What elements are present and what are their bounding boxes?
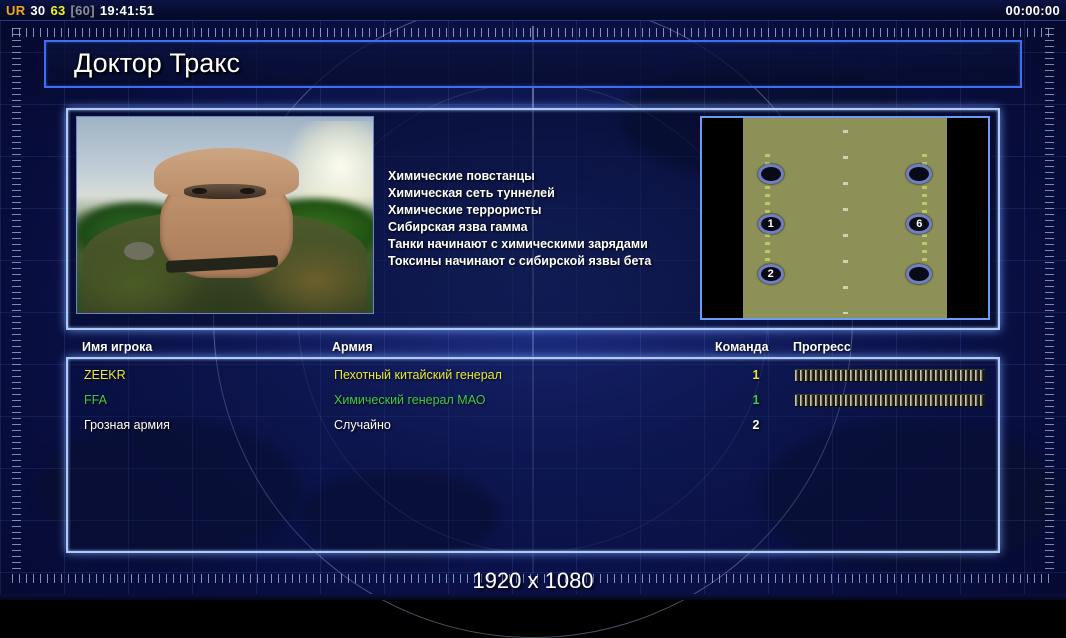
- player-table-header: Имя игрока Армия Команда Прогресс: [66, 340, 1000, 358]
- map-start-position-2[interactable]: 2: [758, 264, 784, 284]
- player-table-panel: ZEEKRПехотный китайский генерал1FFAХимич…: [66, 357, 1000, 553]
- ruler-right: [1045, 28, 1054, 574]
- bottom-bar: [0, 594, 1066, 600]
- map-description-line: Химическая сеть туннелей: [388, 185, 718, 202]
- resolution-label: 1920 x 1080: [0, 568, 1066, 594]
- cell-player-name: Грозная армия: [84, 418, 170, 432]
- column-header-team: Команда: [715, 340, 769, 354]
- ur-label: UR: [6, 3, 25, 18]
- map-description-line: Танки начинают с химическими зарядами: [388, 236, 718, 253]
- cell-team: 1: [741, 368, 771, 382]
- column-header-army: Армия: [332, 340, 373, 354]
- map-info-panel: Химические повстанцы Химическая сеть тун…: [66, 108, 1000, 330]
- portrait-eye-right: [240, 188, 255, 195]
- map-start-position-1[interactable]: 1: [758, 214, 784, 234]
- cell-player-name: FFA: [84, 393, 107, 407]
- faction-portrait-image: [76, 116, 374, 314]
- cell-army: Химический генерал МАО: [334, 393, 485, 407]
- ur-value: 30: [30, 3, 45, 18]
- cell-team: 2: [741, 418, 771, 432]
- match-timer: 00:00:00: [1006, 3, 1060, 18]
- cell-player-name: ZEEKR: [84, 368, 126, 382]
- column-header-player: Имя игрока: [82, 340, 152, 354]
- table-row[interactable]: FFAХимический генерал МАО1: [68, 390, 998, 414]
- cell-army: Случайно: [334, 418, 391, 432]
- ruler-left: [12, 28, 21, 574]
- map-preview[interactable]: 126: [700, 116, 990, 320]
- cell-team: 1: [741, 393, 771, 407]
- page-title: Доктор Тракс: [74, 48, 240, 79]
- clock-value: 19:41:51: [100, 3, 154, 18]
- status-bar: UR 30 63 [60] 19:41:51 00:00:00: [0, 0, 1066, 21]
- table-row[interactable]: Грозная армияСлучайно2: [68, 415, 998, 439]
- map-description-line: Химические повстанцы: [388, 168, 718, 185]
- map-description-line: Химические террористы: [388, 202, 718, 219]
- portrait-canteen: [124, 242, 154, 260]
- fps-cap-value: [60]: [71, 3, 95, 18]
- ruler-top: [12, 28, 1054, 37]
- table-row[interactable]: ZEEKRПехотный китайский генерал1: [68, 365, 998, 389]
- cell-progress-bar: [795, 369, 985, 382]
- map-center-line: [843, 130, 848, 314]
- map-description-line: Токсины начинают с сибирской язвы бета: [388, 253, 718, 270]
- fps-value: 63: [50, 3, 65, 18]
- map-start-position-empty[interactable]: [758, 164, 784, 184]
- map-title-panel: Доктор Тракс: [44, 40, 1022, 88]
- cell-progress-bar: [795, 394, 985, 407]
- status-bar-right: 00:00:00: [1006, 3, 1060, 18]
- map-description-line: Сибирская язва гамма: [388, 219, 718, 236]
- map-description-list: Химические повстанцы Химическая сеть тун…: [388, 168, 718, 270]
- column-header-progress: Прогресс: [793, 340, 851, 354]
- cell-army: Пехотный китайский генерал: [334, 368, 502, 382]
- status-bar-left: UR 30 63 [60] 19:41:51: [6, 3, 154, 18]
